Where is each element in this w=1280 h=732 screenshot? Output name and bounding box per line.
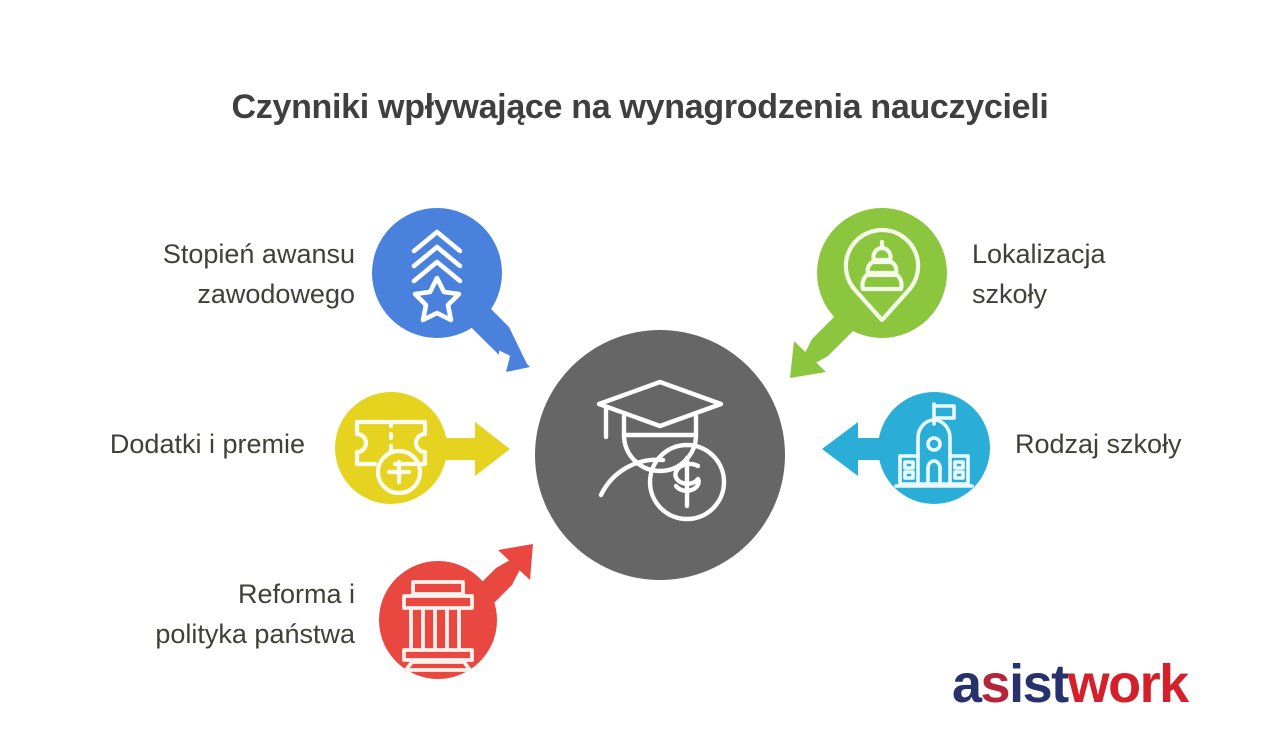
page-title: Czynniki wpływające na wynagrodzenia nau…	[0, 88, 1280, 127]
factor-node-rodzaj-szkoly[interactable]	[808, 392, 998, 507]
center-node-teacher-salary[interactable]	[535, 330, 785, 585]
factor-label-stopien-awansu-zawodowego: Stopień awansu zawodowego	[15, 234, 355, 314]
factor-label-lokalizacja-szkoly: Lokalizacja szkoły	[972, 234, 1272, 314]
brand-logo-asistwork[interactable]: asistwork	[952, 655, 1188, 713]
factor-node-lokalizacja-szkoly[interactable]	[772, 208, 952, 378]
logo-part-ist: ist	[1009, 654, 1068, 714]
factor-node-dodatki-i-premie[interactable]	[335, 392, 525, 507]
factor-label-reforma-i-polityka-panstwa: Reforma i polityka państwa	[15, 574, 355, 654]
factor-circle-stopien-awansu-zawodowego	[372, 208, 502, 338]
logo-part-work: work	[1068, 654, 1188, 714]
factor-label-rodzaj-szkoly: Rodzaj szkoły	[1015, 424, 1275, 464]
factor-label-dodatki-i-premie: Dodatki i premie	[15, 424, 305, 464]
logo-part-s: s	[981, 654, 1010, 714]
logo-part-a: a	[952, 654, 981, 714]
infographic-canvas: Czynniki wpływające na wynagrodzenia nau…	[0, 0, 1280, 732]
